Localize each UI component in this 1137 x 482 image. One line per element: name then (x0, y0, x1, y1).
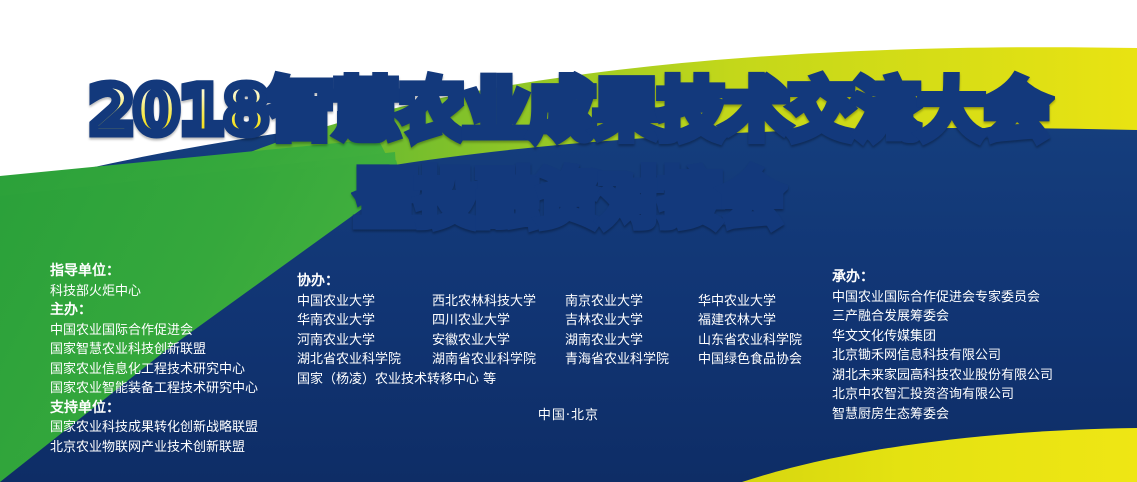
co-organizer-item: 中国绿色食品协会 (698, 350, 802, 370)
host-item: 华文文化传媒集团 (832, 327, 1053, 347)
co-organizer-item: 湖南省农业科学院 (432, 350, 565, 370)
co-organizer-item: 华南农业大学 (297, 311, 432, 331)
co-organizer-heading: 协办： (297, 272, 802, 292)
organizer-item: 国家智慧农业科技创新联盟 (50, 340, 258, 360)
co-organizer-item: 福建农林大学 (698, 311, 802, 331)
co-organizer-item: 四川农业大学 (432, 311, 565, 331)
co-organizer-item: 河南农业大学 (297, 331, 432, 351)
co-organizer-item: 湖北省农业科学院 (297, 350, 432, 370)
organizer-item: 国家农业智能装备工程技术研究中心 (50, 379, 258, 399)
co-organizer-item: 青海省农业科学院 (565, 350, 698, 370)
co-organizer-item: 南京农业大学 (565, 292, 698, 312)
guidance-item: 科技部火炬中心 (50, 282, 258, 302)
co-organizer-item: 山东省农业科学院 (698, 331, 802, 351)
host-item: 三产融合发展筹委会 (832, 307, 1053, 327)
co-organizer-last-line: 国家（杨凌）农业技术转移中心 等 (297, 370, 698, 390)
host-item: 湖北未来家园高科技农业股份有限公司 (832, 366, 1053, 386)
co-organizer-item: 西北农林科技大学 (432, 292, 565, 312)
conference-banner: 2018智慧农业成果技术交流大会 2018智慧农业成果技术交流大会 暨投融资对接… (0, 0, 1137, 482)
supporter-item: 北京农业物联网产业技术创新联盟 (50, 438, 258, 458)
co-organizer-grid: 中国农业大学 西北农林科技大学 南京农业大学 华中农业大学 华南农业大学 四川农… (297, 292, 802, 390)
guidance-heading: 指导单位： (50, 262, 258, 282)
host-item: 中国农业国际合作促进会专家委员会 (832, 288, 1053, 308)
organizer-item: 国家农业信息化工程技术研究中心 (50, 360, 258, 380)
left-credits-column: 指导单位： 科技部火炬中心 主办： 中国农业国际合作促进会 国家智慧农业科技创新… (50, 262, 258, 457)
host-column: 承办： 中国农业国际合作促进会专家委员会 三产融合发展筹委会 华文文化传媒集团 … (832, 268, 1053, 424)
host-item: 北京中农智汇投资咨询有限公司 (832, 385, 1053, 405)
co-organizer-column: 协办： 中国农业大学 西北农林科技大学 南京农业大学 华中农业大学 华南农业大学… (297, 272, 802, 389)
co-organizer-item: 中国农业大学 (297, 292, 432, 312)
host-item: 北京锄禾网信息科技有限公司 (832, 346, 1053, 366)
city-location-text: 中国·北京 (0, 404, 1137, 423)
host-heading: 承办： (832, 268, 1053, 288)
co-organizer-item: 安徽农业大学 (432, 331, 565, 351)
organizer-item: 中国农业国际合作促进会 (50, 321, 258, 341)
co-organizer-item: 湖南农业大学 (565, 331, 698, 351)
co-organizer-item: 吉林农业大学 (565, 311, 698, 331)
co-organizer-item: 华中农业大学 (698, 292, 802, 312)
organizer-heading: 主办： (50, 301, 258, 321)
